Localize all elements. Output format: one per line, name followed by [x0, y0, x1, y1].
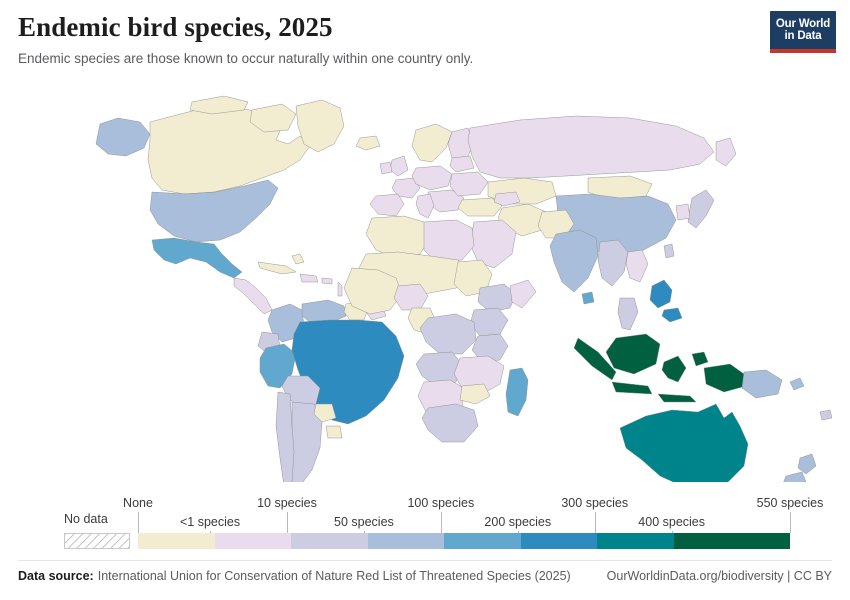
legend-tick-labels: None<1 species10 species50 species100 sp… — [0, 496, 850, 532]
region-lesser-antilles[interactable] — [338, 282, 342, 296]
region-philippines[interactable] — [650, 280, 672, 308]
legend-bin-2[interactable] — [291, 533, 368, 549]
chart-header: Endemic bird species, 2025 Endemic speci… — [18, 10, 832, 68]
region-ukraine[interactable] — [450, 172, 488, 196]
region-alaska[interactable] — [96, 118, 150, 156]
owid-logo[interactable]: Our World in Data — [770, 11, 836, 53]
region-taiwan[interactable] — [664, 244, 674, 258]
region-myanmar-thai[interactable] — [598, 240, 628, 286]
legend-color-bar[interactable] — [138, 533, 790, 549]
legend-tick-label-1: <1 species — [180, 515, 240, 529]
region-central-america[interactable] — [234, 278, 272, 314]
region-australia[interactable] — [620, 404, 748, 482]
legend-tick-4 — [441, 512, 442, 533]
legend-bin-7[interactable] — [674, 533, 790, 549]
region-uruguay[interactable] — [326, 426, 342, 438]
region-india[interactable] — [550, 230, 598, 292]
page-subtitle: Endemic species are those known to occur… — [18, 50, 832, 68]
legend-bin-4[interactable] — [444, 533, 521, 549]
region-italy[interactable] — [416, 194, 434, 218]
world-choropleth-map[interactable] — [0, 82, 850, 482]
owid-logo-line1: Our World — [776, 18, 830, 31]
region-somalia[interactable] — [510, 280, 536, 308]
region-vietnam[interactable] — [626, 250, 648, 282]
page-title: Endemic bird species, 2025 — [18, 10, 832, 44]
region-mexico[interactable] — [152, 238, 242, 278]
legend-tick-2 — [287, 512, 288, 533]
region-russia[interactable] — [468, 116, 714, 178]
footer-divider — [18, 560, 832, 561]
region-japan[interactable] — [688, 190, 714, 228]
owid-logo-line2: in Data — [785, 30, 822, 43]
region-malaysia-peninsula[interactable] — [618, 298, 638, 330]
data-source-label: Data source: — [18, 569, 94, 583]
region-puerto-rico[interactable] — [322, 278, 332, 284]
legend-tick-label-6: 300 species — [561, 496, 628, 510]
legend-tick-label-4: 100 species — [407, 496, 474, 510]
owid-logo-bar — [770, 49, 836, 53]
legend-bin-5[interactable] — [521, 533, 598, 549]
map-svg — [0, 82, 850, 482]
region-koreas[interactable] — [676, 204, 690, 220]
legend-bin-0[interactable] — [138, 533, 215, 549]
region-new-guinea-west[interactable] — [704, 364, 746, 392]
region-uk[interactable] — [390, 156, 408, 176]
legend-tick-label-3: 50 species — [334, 515, 394, 529]
region-scandinavia[interactable] — [412, 124, 452, 162]
region-bahamas[interactable] — [292, 254, 304, 264]
legend-bin-3[interactable] — [368, 533, 445, 549]
region-borneo[interactable] — [606, 334, 660, 374]
region-south-africa[interactable] — [422, 404, 478, 442]
region-venezuela[interactable] — [302, 300, 346, 322]
region-morocco-algeria[interactable] — [366, 216, 430, 258]
legend-tick-0 — [138, 512, 139, 533]
region-kamchatka[interactable] — [716, 138, 736, 166]
region-iceland[interactable] — [356, 136, 380, 150]
region-zimbabwe[interactable] — [460, 384, 490, 404]
legend-tick-label-2: 10 species — [257, 496, 317, 510]
legend-bin-1[interactable] — [215, 533, 292, 549]
region-baltics[interactable] — [450, 156, 474, 172]
legend-tick-label-8: 550 species — [757, 496, 824, 510]
region-sulawesi[interactable] — [662, 356, 686, 382]
region-dr-congo[interactable] — [420, 314, 476, 354]
legend-bin-6[interactable] — [597, 533, 674, 549]
legend-tick-8 — [790, 512, 791, 533]
region-philippines-south[interactable] — [662, 308, 682, 322]
region-ireland[interactable] — [380, 162, 392, 174]
region-madagascar[interactable] — [506, 368, 528, 416]
attribution-link[interactable]: OurWorldinData.org/biodiversity | CC BY — [607, 569, 832, 583]
legend-tick-label-5: 200 species — [484, 515, 551, 529]
hatch-pattern-icon — [65, 534, 129, 548]
region-java[interactable] — [612, 382, 652, 394]
legend-no-data-swatch[interactable] — [64, 533, 130, 549]
region-papua-new-guinea[interactable] — [742, 370, 782, 398]
chart-page: Endemic bird species, 2025 Endemic speci… — [0, 0, 850, 600]
legend-tick-label-7: 400 species — [638, 515, 705, 529]
chart-footer: Data source: International Union for Con… — [18, 566, 832, 586]
region-cuba[interactable] — [258, 262, 296, 274]
legend-tick-label-0: None — [123, 496, 153, 510]
region-fiji[interactable] — [820, 410, 832, 420]
region-iberia[interactable] — [370, 194, 404, 216]
data-source-text: International Union for Conservation of … — [98, 569, 571, 583]
legend-no-data-label: No data — [64, 512, 108, 526]
map-legend: None<1 species10 species50 species100 sp… — [0, 496, 850, 558]
region-maluku[interactable] — [692, 352, 708, 366]
region-new-zealand-south[interactable] — [782, 472, 806, 482]
region-hispaniola[interactable] — [300, 274, 318, 282]
region-new-zealand-north[interactable] — [798, 454, 816, 474]
region-libya-egypt[interactable] — [424, 220, 474, 262]
region-kenya-uganda[interactable] — [470, 308, 508, 336]
region-lesser-sunda[interactable] — [658, 394, 696, 402]
legend-tick-6 — [595, 512, 596, 533]
region-sri-lanka[interactable] — [582, 292, 594, 304]
region-solomon-islands[interactable] — [790, 378, 804, 390]
